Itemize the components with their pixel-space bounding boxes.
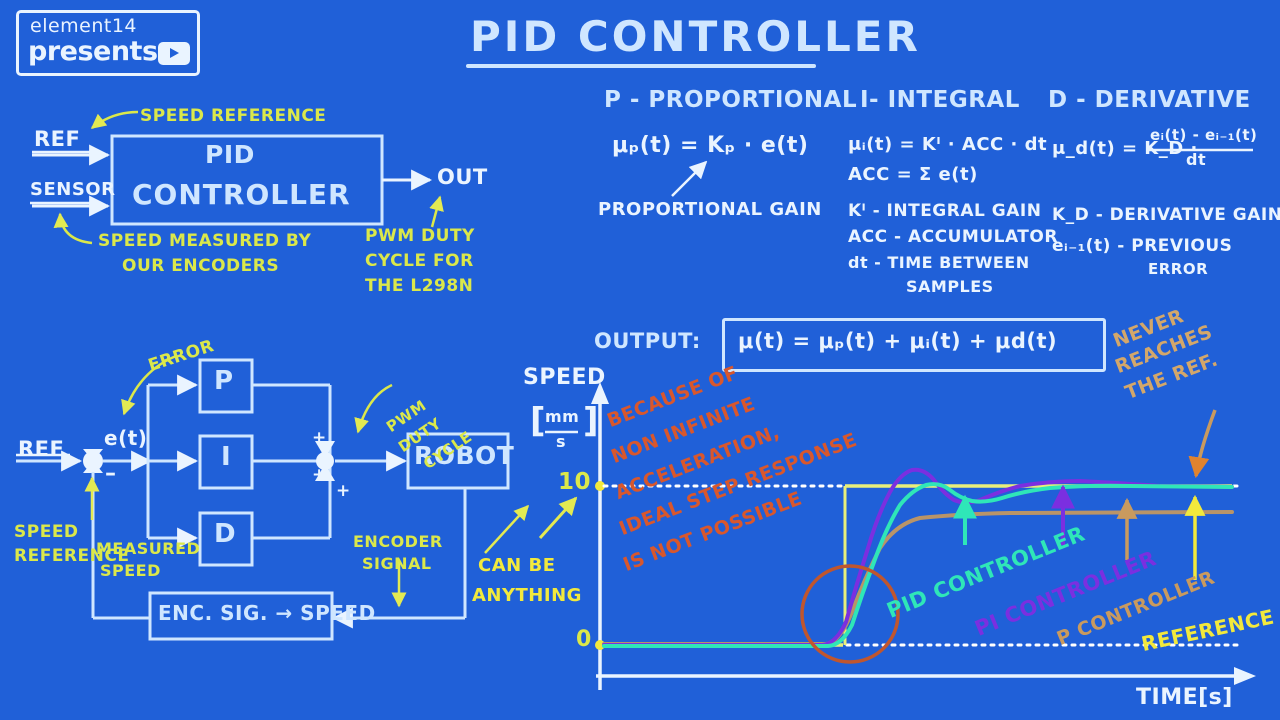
chart-ytick-10: 10 [558,470,591,494]
chart-xlabel: TIME[s] [1136,686,1233,709]
chart-yunit-denominator: s [556,434,566,451]
chart-yunit-bar [0,0,1280,720]
chart-ytick-0: 0 [576,628,592,651]
